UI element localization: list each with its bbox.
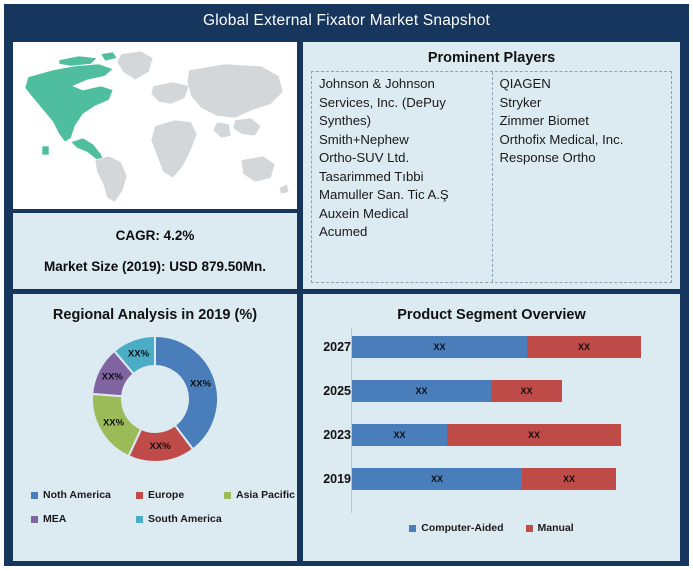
legend-label: Computer-Aided — [421, 522, 503, 534]
players-column-right: QIAGEN Stryker Zimmer Biomet Orthofix Me… — [492, 72, 672, 282]
bar-value-label: XX — [433, 342, 445, 352]
list-item: Auxein Medical — [319, 205, 486, 224]
bar-value-label: XX — [431, 474, 443, 484]
list-item: Ortho-SUV Ltd. — [319, 149, 486, 168]
prominent-players-panel: Prominent Players Johnson & Johnson Serv… — [303, 42, 680, 289]
legend-item-computer-aided: Computer-Aided — [409, 522, 503, 534]
donut-slice-label: XX% — [150, 441, 172, 452]
players-grid: Johnson & Johnson Services, Inc. (DePuy … — [311, 71, 672, 283]
legend-label: Manual — [538, 522, 574, 534]
legend-swatch — [224, 492, 231, 499]
regional-analysis-panel: Regional Analysis in 2019 (%) XX%XX%XX%X… — [13, 294, 297, 561]
list-item: Response Ortho — [500, 149, 666, 168]
market-size-value: Market Size (2019): USD 879.50Mn. — [44, 259, 266, 274]
legend-item-asia-pacific: Asia Pacific — [224, 489, 295, 501]
bar-value-label: XX — [415, 386, 427, 396]
list-item: Stryker — [500, 94, 666, 113]
list-item: Orthofix Medical, Inc. — [500, 131, 666, 150]
legend-item-noth-america: Noth America — [31, 489, 136, 501]
legend-label: Asia Pacific — [236, 489, 295, 501]
legend-row-1: Noth America Europe Asia Pacific — [31, 489, 297, 501]
bar-segment: XX — [352, 424, 447, 446]
legend-label: Europe — [148, 489, 184, 501]
legend-item-europe: Europe — [136, 489, 224, 501]
bar-value-label: XX — [528, 430, 540, 440]
list-item: Smith+Nephew — [319, 131, 486, 150]
cagr-value: CAGR: 4.2% — [116, 228, 195, 243]
bar-segment: XX — [352, 380, 491, 402]
bar-category-label: 2019 — [311, 468, 351, 490]
legend-item-mea: MEA — [31, 513, 136, 525]
bar-value-label: XX — [393, 430, 405, 440]
prominent-players-title: Prominent Players — [311, 50, 672, 66]
product-segment-title: Product Segment Overview — [303, 294, 680, 323]
bar-segment: XX — [491, 380, 562, 402]
list-item: Synthes) — [319, 112, 486, 131]
regional-analysis-title: Regional Analysis in 2019 (%) — [13, 294, 297, 323]
page-title: Global External Fixator Market Snapshot — [4, 4, 689, 38]
bar-track: XXXX — [352, 468, 616, 490]
legend-swatch — [409, 525, 416, 532]
world-map-image — [13, 42, 297, 209]
bar-segment: XX — [527, 336, 641, 358]
bar-segment: XX — [352, 336, 527, 358]
bar-track: XXXX — [352, 424, 621, 446]
legend-label: MEA — [43, 513, 66, 525]
players-column-left: Johnson & Johnson Services, Inc. (DePuy … — [312, 72, 492, 282]
bar-segment: XX — [352, 468, 522, 490]
list-item: Tasarimmed Tıbbi — [319, 168, 486, 187]
bar-value-label: XX — [520, 386, 532, 396]
bar-category-label: 2023 — [311, 424, 351, 446]
bar-value-label: XX — [578, 342, 590, 352]
bar-segment: XX — [447, 424, 621, 446]
bar-track: XXXX — [352, 380, 562, 402]
donut-slice-label: XX% — [128, 348, 150, 359]
regional-donut-chart: XX%XX%XX%XX%XX% — [90, 334, 220, 464]
bar-category-label: 2027 — [311, 336, 351, 358]
list-item: Mamuller San. Tic A.Ş — [319, 186, 486, 205]
bar-category-label: 2025 — [311, 380, 351, 402]
world-map-panel — [13, 42, 297, 209]
infographic-root: Global External Fixator Market Snapshot — [0, 0, 693, 570]
legend-label: Noth America — [43, 489, 111, 501]
legend-swatch — [526, 525, 533, 532]
legend-item-manual: Manual — [526, 522, 574, 534]
legend-item-south-america: South America — [136, 513, 222, 525]
outer-frame: Global External Fixator Market Snapshot — [4, 4, 689, 566]
donut-slice-label: XX% — [190, 378, 212, 389]
legend-swatch — [136, 516, 143, 523]
list-item: Acumed — [319, 223, 486, 242]
product-segment-panel: Product Segment Overview 2027XXXX2025XXX… — [303, 294, 680, 561]
legend-swatch — [31, 492, 38, 499]
regional-legend: Noth America Europe Asia Pacific MEA — [31, 489, 297, 537]
bar-track: XXXX — [352, 336, 641, 358]
list-item: QIAGEN — [500, 75, 666, 94]
bar-value-label: XX — [563, 474, 575, 484]
list-item: Johnson & Johnson — [319, 75, 486, 94]
bar-segment: XX — [522, 468, 616, 490]
legend-row-2: MEA South America — [31, 513, 297, 525]
key-stats-panel: CAGR: 4.2% Market Size (2019): USD 879.5… — [13, 213, 297, 289]
donut-slice-label: XX% — [103, 418, 125, 429]
donut-chart-wrap: XX%XX%XX%XX%XX% — [13, 334, 297, 474]
product-segment-bar-chart: 2027XXXX2025XXXX2023XXXX2019XXXX — [303, 328, 680, 520]
legend-label: South America — [148, 513, 222, 525]
legend-swatch — [136, 492, 143, 499]
list-item: Services, Inc. (DePuy — [319, 94, 486, 113]
legend-swatch — [31, 516, 38, 523]
product-segment-legend: Computer-Aided Manual — [303, 522, 680, 534]
list-item: Zimmer Biomet — [500, 112, 666, 131]
donut-slice-label: XX% — [102, 372, 124, 383]
